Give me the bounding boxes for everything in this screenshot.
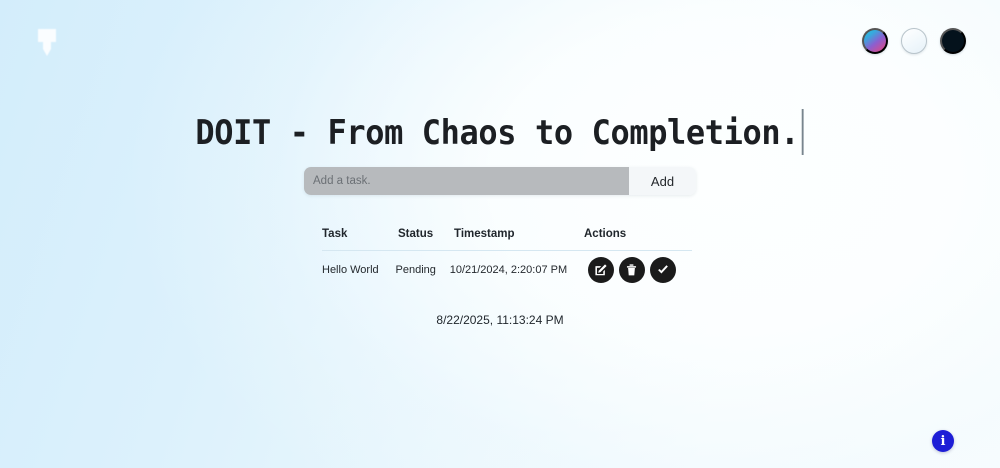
edit-icon bbox=[594, 263, 608, 277]
cell-task: Hello World bbox=[322, 264, 396, 277]
page-title-text: DOIT - From Chaos to Completion. bbox=[196, 113, 800, 153]
footer-timestamp: 8/22/2025, 11:13:24 PM bbox=[0, 313, 1000, 327]
column-header-timestamp: Timestamp bbox=[454, 228, 584, 240]
add-task-button[interactable]: Add bbox=[629, 167, 696, 195]
column-header-status: Status bbox=[398, 228, 454, 240]
task-input[interactable] bbox=[304, 167, 629, 195]
page-title-container: DOIT - From Chaos to Completion. bbox=[0, 86, 1000, 178]
theme-dot-light[interactable] bbox=[901, 28, 927, 54]
task-table: Task Status Timestamp Actions Hello Worl… bbox=[322, 228, 692, 283]
cell-actions bbox=[588, 264, 693, 283]
add-task-row: Add bbox=[304, 167, 696, 195]
theme-dot-dark[interactable] bbox=[940, 28, 966, 54]
table-row: Hello World Pending 10/21/2024, 2:20:07 … bbox=[322, 251, 692, 283]
app-logo-glyph bbox=[34, 26, 60, 58]
delete-task-button[interactable] bbox=[619, 257, 645, 283]
column-header-timestamp-label: Timestamp bbox=[454, 228, 584, 240]
info-button[interactable]: i bbox=[932, 430, 954, 452]
column-header-actions: Actions bbox=[584, 228, 692, 240]
cell-timestamp: 10/21/2024, 2:20:07 PM bbox=[450, 264, 588, 277]
row-action-buttons bbox=[588, 257, 693, 283]
info-icon: i bbox=[941, 435, 946, 448]
text-caret bbox=[802, 109, 804, 155]
trash-icon bbox=[625, 263, 638, 277]
theme-selector bbox=[862, 28, 966, 54]
app-root: DOIT - From Chaos to Completion. Add Tas… bbox=[0, 0, 1000, 468]
app-logo bbox=[34, 26, 60, 58]
cell-status: Pending bbox=[396, 264, 450, 277]
theme-dot-gradient[interactable] bbox=[862, 28, 888, 54]
edit-task-button[interactable] bbox=[588, 257, 614, 283]
column-header-task-label: Task bbox=[322, 228, 398, 240]
column-header-task: Task bbox=[322, 228, 398, 240]
column-header-status-label: Status bbox=[398, 228, 454, 240]
check-icon bbox=[656, 263, 670, 277]
complete-task-button[interactable] bbox=[650, 257, 676, 283]
column-header-actions-label: Actions bbox=[584, 228, 692, 240]
table-header-row: Task Status Timestamp Actions bbox=[322, 228, 692, 251]
page-title: DOIT - From Chaos to Completion. bbox=[196, 109, 804, 155]
